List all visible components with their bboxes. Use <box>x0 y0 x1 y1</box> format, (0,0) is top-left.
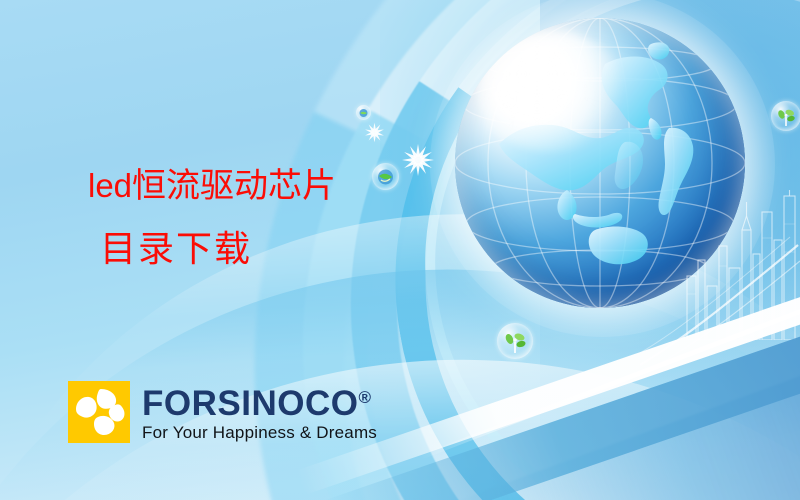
logo-text-block: FORSINOCO® For Your Happiness & Dreams <box>142 380 377 443</box>
logo-wordmark: FORSINOCO® <box>142 380 377 422</box>
logo-wordmark-text: FORSINOCO <box>142 384 358 423</box>
brand-logo-lockup[interactable]: FORSINOCO® For Your Happiness & Dreams <box>68 380 377 443</box>
logo-tagline: For Your Happiness & Dreams <box>142 423 377 443</box>
headline-latin-led: led <box>88 167 132 204</box>
four-petal-pinwheel-icon <box>68 381 130 443</box>
promo-banner: led恒流驱动芯片 目录下载 FORSINOCO® For Your Happi… <box>0 0 800 500</box>
starburst-large-icon <box>401 143 435 177</box>
headline-block: led恒流驱动芯片 目录下载 <box>88 164 336 271</box>
bubble-globe-top <box>356 105 371 120</box>
globe-rim-light <box>455 18 745 308</box>
headline-line-2: 目录下载 <box>100 227 336 271</box>
headline-line-1: led恒流驱动芯片 <box>88 164 336 209</box>
earth-globe-icon <box>455 18 745 308</box>
registered-trademark-icon: ® <box>358 388 371 407</box>
bubble-pinwheel-right <box>771 101 800 131</box>
starburst-small-icon <box>364 122 385 143</box>
headline-cjk-product: 恒流驱动芯片 <box>132 168 336 205</box>
bubble-globe-mid <box>372 163 399 190</box>
bubble-pinwheel-left <box>497 323 533 359</box>
